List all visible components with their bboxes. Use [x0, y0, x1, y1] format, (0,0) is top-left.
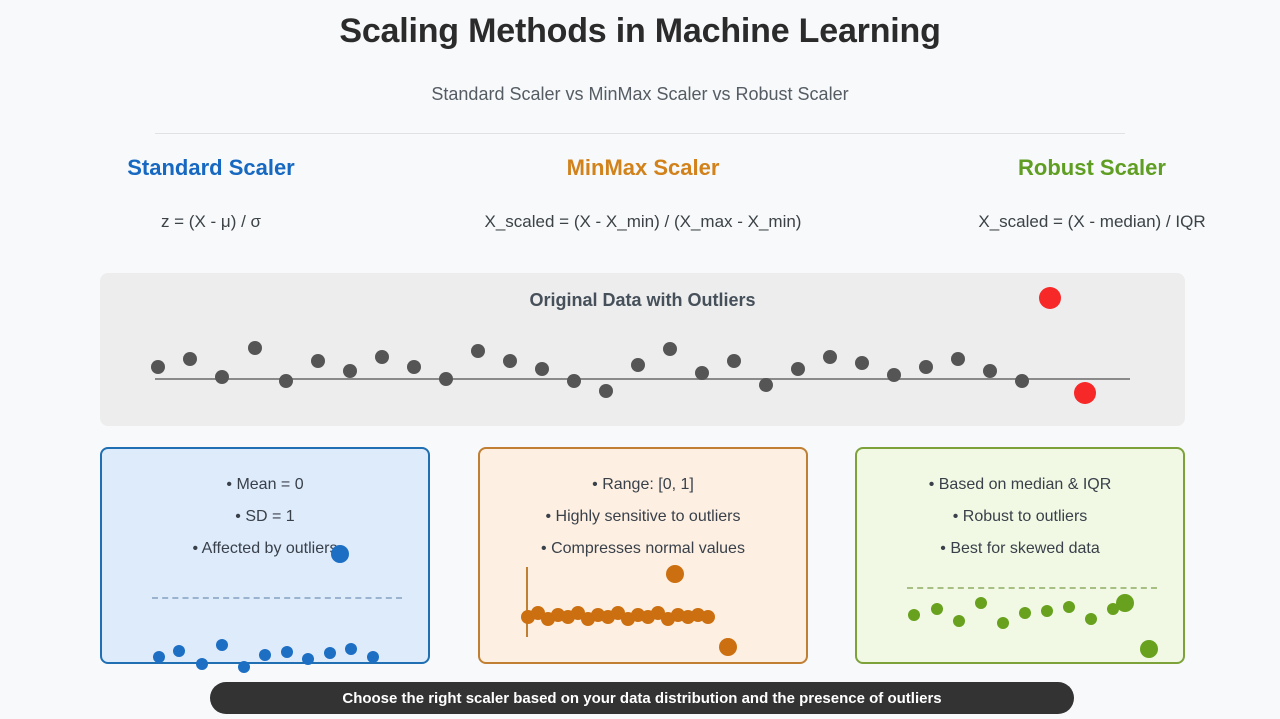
page-title: Scaling Methods in Machine Learning — [0, 12, 1280, 51]
bullet-item: • Range: [0, 1] — [480, 469, 806, 501]
data-point — [153, 651, 165, 663]
data-point — [975, 597, 987, 609]
data-point — [367, 651, 379, 663]
bullet-list-robust: • Based on median & IQR • Robust to outl… — [857, 469, 1183, 565]
data-point — [759, 378, 773, 392]
data-point — [439, 372, 453, 386]
data-point — [375, 350, 389, 364]
data-point — [997, 617, 1009, 629]
column-heading-standard: Standard Scaler — [70, 155, 352, 181]
bullet-item: • Highly sensitive to outliers — [480, 501, 806, 533]
data-point — [248, 341, 262, 355]
data-point — [324, 647, 336, 659]
data-point — [953, 615, 965, 627]
original-baseline — [155, 378, 1130, 380]
data-point — [503, 354, 517, 368]
median-reference-line — [152, 597, 402, 599]
formula-robust: X_scaled = (X - median) / IQR — [892, 212, 1280, 232]
bullet-item: • Mean = 0 — [102, 469, 428, 501]
data-point — [951, 352, 965, 366]
card-minmax-scaler: • Range: [0, 1] • Highly sensitive to ou… — [478, 447, 808, 664]
data-point — [215, 370, 229, 384]
data-point — [666, 565, 684, 583]
data-point — [1019, 607, 1031, 619]
data-point — [908, 609, 920, 621]
header-divider — [155, 133, 1125, 134]
formula-minmax: X_scaled = (X - X_min) / (X_max - X_min) — [452, 212, 834, 232]
data-point — [302, 653, 314, 665]
data-point — [281, 646, 293, 658]
data-point — [919, 360, 933, 374]
data-point — [663, 342, 677, 356]
data-point — [345, 643, 357, 655]
page-subtitle: Standard Scaler vs MinMax Scaler vs Robu… — [0, 84, 1280, 105]
data-point — [259, 649, 271, 661]
data-point — [1041, 605, 1053, 617]
data-point — [1116, 594, 1134, 612]
data-point — [599, 384, 613, 398]
data-point — [1015, 374, 1029, 388]
data-point — [196, 658, 208, 670]
data-point — [173, 645, 185, 657]
robust-scatter-plot — [857, 559, 1183, 659]
column-heading-minmax: MinMax Scaler — [452, 155, 834, 181]
data-point — [311, 354, 325, 368]
footer-banner: Choose the right scaler based on your da… — [210, 682, 1074, 714]
bullet-item: • Based on median & IQR — [857, 469, 1183, 501]
card-robust-scaler: • Based on median & IQR • Robust to outl… — [855, 447, 1185, 664]
data-point — [535, 362, 549, 376]
standard-scatter-plot — [102, 559, 428, 659]
data-point — [1140, 640, 1158, 658]
data-point — [887, 368, 901, 382]
data-point — [343, 364, 357, 378]
data-point — [1074, 382, 1096, 404]
data-point — [331, 545, 349, 563]
data-point — [471, 344, 485, 358]
data-point — [983, 364, 997, 378]
data-point — [216, 639, 228, 651]
bullet-list-standard: • Mean = 0 • SD = 1 • Affected by outlie… — [102, 469, 428, 565]
data-point — [238, 661, 250, 673]
data-point — [719, 638, 737, 656]
data-point — [407, 360, 421, 374]
formula-standard: z = (X - μ) / σ — [70, 212, 352, 232]
column-heading-robust: Robust Scaler — [892, 155, 1280, 181]
data-point — [631, 358, 645, 372]
data-point — [1063, 601, 1075, 613]
data-point — [931, 603, 943, 615]
data-point — [1085, 613, 1097, 625]
original-data-title: Original Data with Outliers — [100, 290, 1185, 311]
bullet-item: • Robust to outliers — [857, 501, 1183, 533]
data-point — [727, 354, 741, 368]
footer-text: Choose the right scaler based on your da… — [342, 690, 941, 707]
bullet-item: • SD = 1 — [102, 501, 428, 533]
data-point — [855, 356, 869, 370]
data-point — [151, 360, 165, 374]
original-data-panel: Original Data with Outliers — [100, 273, 1185, 426]
data-point — [701, 610, 715, 624]
data-point — [183, 352, 197, 366]
card-standard-scaler: • Mean = 0 • SD = 1 • Affected by outlie… — [100, 447, 430, 664]
bullet-list-minmax: • Range: [0, 1] • Highly sensitive to ou… — [480, 469, 806, 565]
infographic-page: Scaling Methods in Machine Learning Stan… — [0, 0, 1280, 719]
minmax-axis-line — [526, 567, 528, 637]
data-point — [279, 374, 293, 388]
data-point — [1039, 287, 1061, 309]
data-point — [791, 362, 805, 376]
minmax-scatter-plot — [480, 559, 806, 659]
data-point — [695, 366, 709, 380]
data-point — [823, 350, 837, 364]
median-reference-line — [907, 587, 1157, 589]
data-point — [567, 374, 581, 388]
